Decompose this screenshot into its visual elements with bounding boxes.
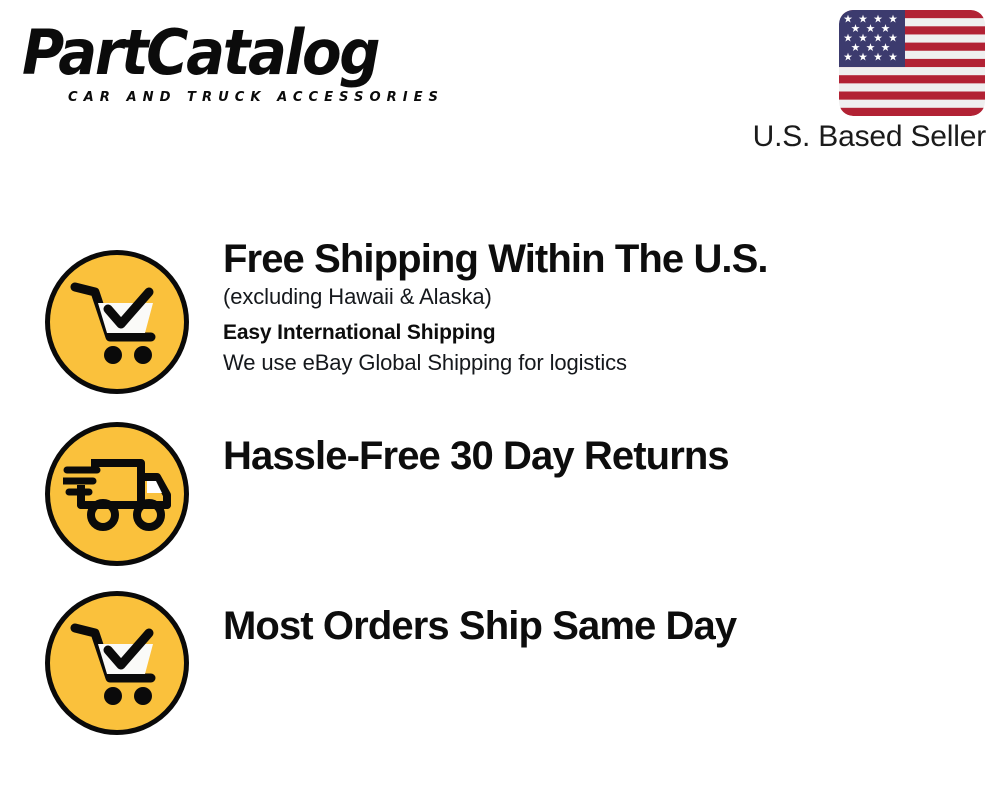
us-flag-badge	[839, 10, 985, 116]
us-flag-icon	[839, 10, 985, 116]
brand-wordmark: PartCatalog	[22, 22, 459, 84]
page-header: PartCatalog CAR AND TRUCK ACCESSORIES	[0, 0, 1000, 170]
feature-title: Most Orders Ship Same Day	[223, 603, 963, 649]
us-based-seller-label: U.S. Based Seller	[753, 118, 986, 156]
shopping-cart-check-icon	[45, 591, 189, 735]
feature-text-block: Most Orders Ship Same Day	[223, 603, 963, 649]
feature-row: Hassle-Free 30 Day Returns	[0, 371, 1000, 541]
brand-tagline: CAR AND TRUCK ACCESSORIES	[68, 90, 479, 105]
feature-text-block: Hassle-Free 30 Day Returns	[223, 433, 963, 479]
feature-row: Most Orders Ship Same Day	[0, 541, 1000, 711]
feature-title: Free Shipping Within The U.S.	[223, 236, 963, 282]
brand-logo[interactable]: PartCatalog CAR AND TRUCK ACCESSORIES	[22, 22, 492, 105]
feature-sub-heading: Easy International Shipping	[223, 318, 963, 348]
feature-row: Free Shipping Within The U.S. (excluding…	[0, 200, 1000, 370]
feature-title: Hassle-Free 30 Day Returns	[223, 433, 963, 479]
feature-subtitle: (excluding Hawaii & Alaska)	[223, 282, 963, 312]
feature-text-block: Free Shipping Within The U.S. (excluding…	[223, 236, 963, 378]
